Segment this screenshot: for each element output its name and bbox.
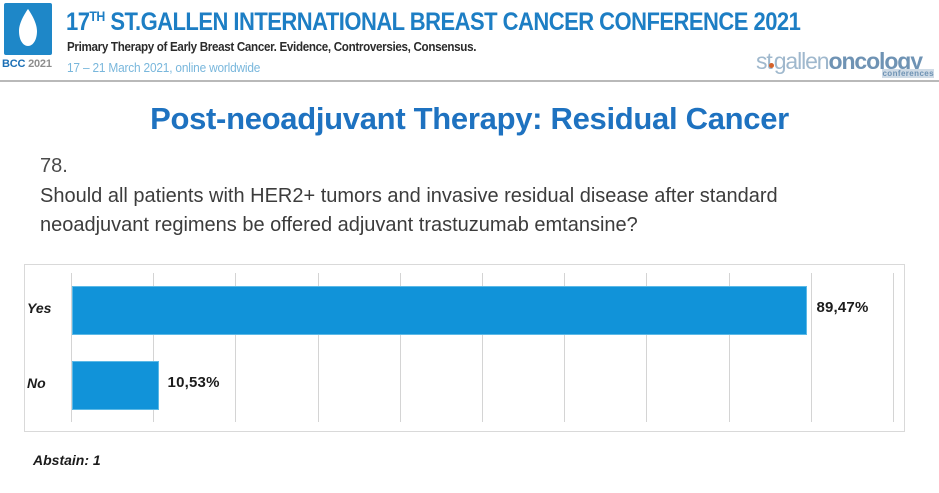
conference-date: 17 – 21 March 2021, online worldwide — [67, 61, 260, 75]
chart-category-label-0: Yes — [27, 300, 65, 316]
header-divider — [0, 80, 939, 82]
bcc-caption-year: 2021 — [28, 58, 52, 70]
droplet-icon — [15, 8, 41, 48]
poll-results-chart: Yes 89,47% No 10,53% — [24, 264, 905, 432]
slide-root: BCC 2021 17TH ST.GALLEN INTERNATIONAL BR… — [0, 0, 939, 493]
conference-title-prefix: 17 — [66, 8, 89, 36]
chart-row-no: No 10,53% — [71, 348, 893, 423]
chart-bar-yes — [72, 286, 807, 335]
chart-value-label-no: 10,53% — [168, 374, 220, 391]
bcc-caption: BCC 2021 — [2, 58, 52, 70]
chart-bar-no — [72, 361, 159, 410]
conference-header: BCC 2021 17TH ST.GALLEN INTERNATIONAL BR… — [0, 0, 939, 82]
chart-category-label-1: No — [27, 375, 65, 391]
sgo-part-gallen: gallen — [774, 48, 829, 74]
chart-value-label-yes: 89,47% — [816, 299, 868, 316]
conference-title: 17TH ST.GALLEN INTERNATIONAL BREAST CANC… — [66, 8, 800, 37]
bcc-caption-brand: BCC — [2, 58, 25, 70]
question-number: 78. — [40, 155, 68, 178]
abstain-count: Abstain: 1 — [33, 452, 101, 468]
chart-gridline — [893, 273, 894, 422]
question-text: Should all patients with HER2+ tumors an… — [40, 182, 870, 240]
conference-subtitle: Primary Therapy of Early Breast Cancer. … — [67, 40, 476, 54]
sgo-part-st: st — [756, 48, 772, 74]
conference-title-rest: ST.GALLEN INTERNATIONAL BREAST CANCER CO… — [105, 8, 801, 36]
chart-plot-area: Yes 89,47% No 10,53% — [71, 273, 893, 422]
st-gallen-oncology-logo: stgallenoncology conferences — [756, 48, 936, 82]
conference-title-sup: TH — [89, 8, 104, 24]
page-title: Post-neoadjuvant Therapy: Residual Cance… — [0, 101, 939, 137]
sgo-part-conferences: conferences — [882, 69, 934, 78]
bcc-droplet-logo — [4, 3, 52, 55]
chart-row-yes: Yes 89,47% — [71, 273, 893, 348]
